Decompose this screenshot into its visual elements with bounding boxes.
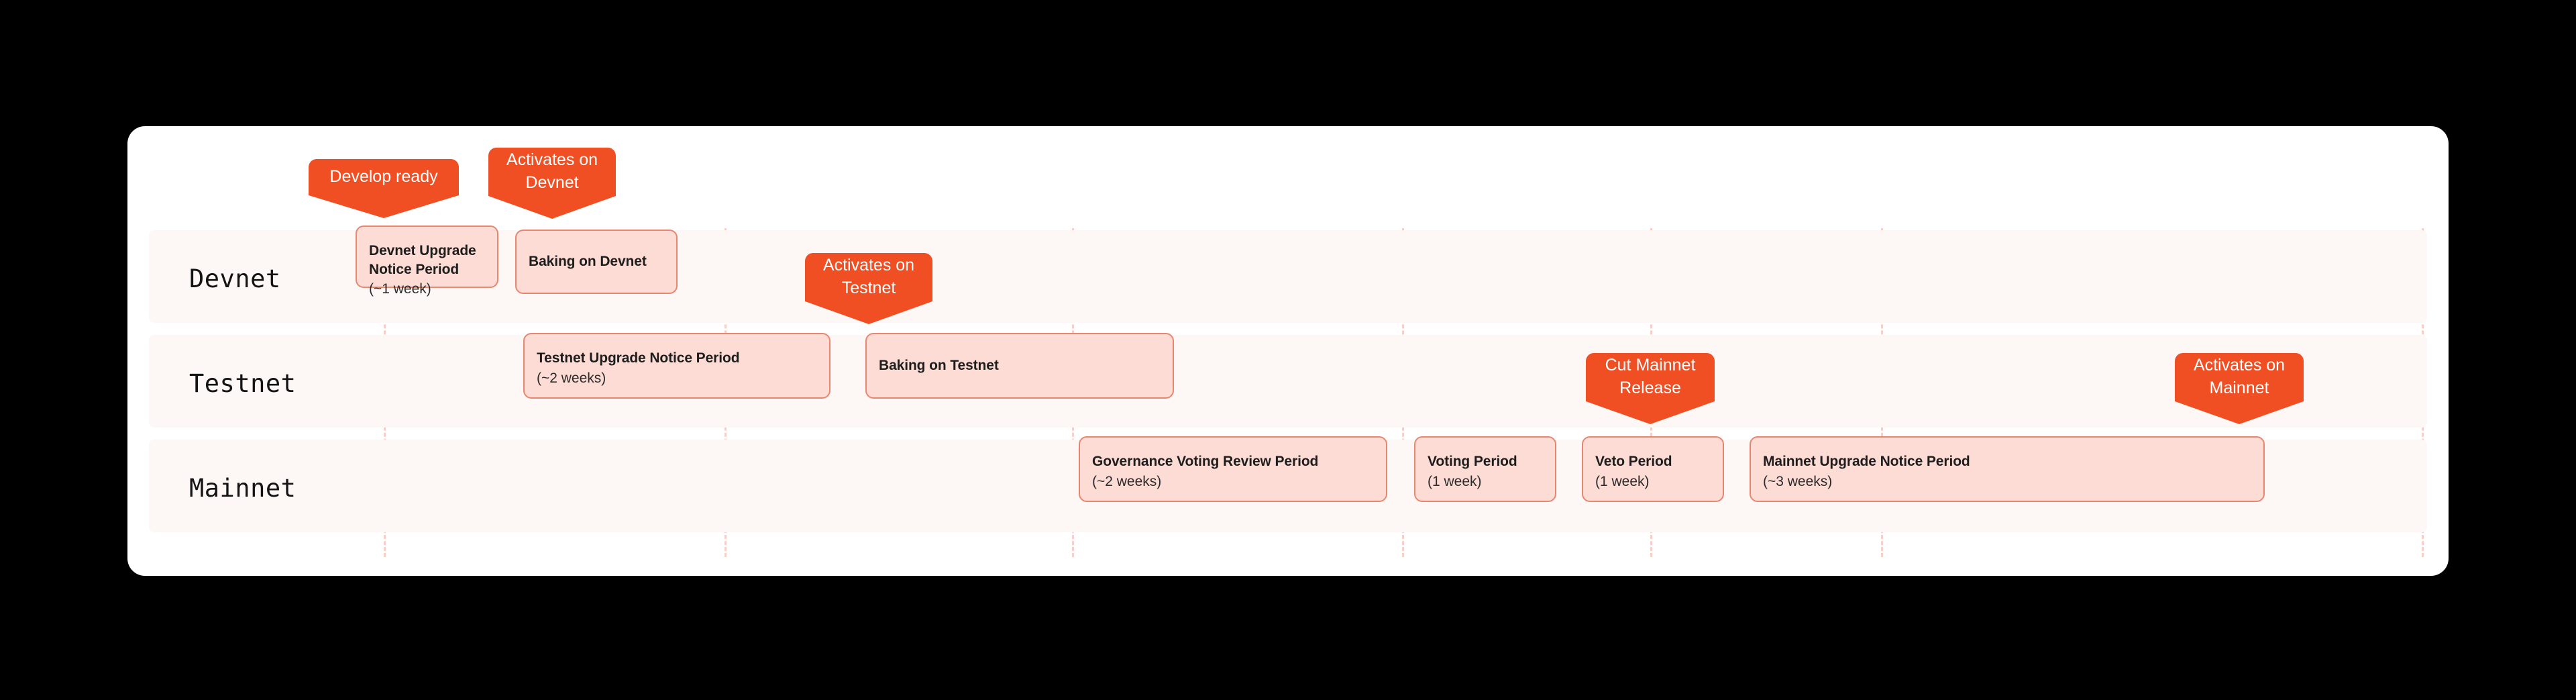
timeline-panel: Devnet Testnet Mainnet Devnet Upgrade No… xyxy=(127,126,2449,576)
card-duration: (~2 weeks) xyxy=(537,369,817,388)
card-voting-period[interactable]: Voting Period (1 week) xyxy=(1414,436,1556,502)
card-duration: (~2 weeks) xyxy=(1092,472,1374,491)
marker-cut-mainnet-release[interactable]: Cut Mainnet Release xyxy=(1586,353,1715,401)
card-title: Testnet Upgrade Notice Period xyxy=(537,349,817,368)
card-mainnet-upgrade-notice-period[interactable]: Mainnet Upgrade Notice Period (~3 weeks) xyxy=(1750,436,2265,502)
card-title: Mainnet Upgrade Notice Period xyxy=(1763,452,2251,471)
marker-activates-on-testnet[interactable]: Activates on Testnet xyxy=(805,253,932,301)
card-duration: (1 week) xyxy=(1428,472,1543,491)
card-testnet-upgrade-notice-period[interactable]: Testnet Upgrade Notice Period (~2 weeks) xyxy=(523,333,830,399)
marker-label-line2: Release xyxy=(1619,377,1681,400)
timeline-grid: Devnet Testnet Mainnet Devnet Upgrade No… xyxy=(127,126,2449,576)
card-title: Devnet Upgrade Notice Period xyxy=(369,242,485,279)
card-title: Governance Voting Review Period xyxy=(1092,452,1374,471)
row-band-testnet xyxy=(149,335,2427,428)
card-title: Voting Period xyxy=(1428,452,1543,471)
row-label-testnet: Testnet xyxy=(189,369,364,398)
card-devnet-upgrade-notice-period[interactable]: Devnet Upgrade Notice Period (~1 week) xyxy=(356,226,498,288)
marker-label-line1: Activates on xyxy=(2194,354,2285,377)
marker-develop-ready[interactable]: Develop ready xyxy=(309,159,459,195)
card-duration: (~3 weeks) xyxy=(1763,472,2251,491)
card-title: Baking on Devnet xyxy=(529,252,664,271)
card-baking-on-devnet[interactable]: Baking on Devnet xyxy=(515,230,678,294)
marker-activates-on-mainnet[interactable]: Activates on Mainnet xyxy=(2175,353,2304,401)
marker-label-line1: Cut Mainnet xyxy=(1605,354,1696,377)
row-label-mainnet: Mainnet xyxy=(189,474,364,503)
card-governance-voting-review-period[interactable]: Governance Voting Review Period (~2 week… xyxy=(1079,436,1387,502)
marker-label-line2: Testnet xyxy=(842,277,896,300)
marker-label-line2: Mainnet xyxy=(2210,377,2269,400)
marker-label-line2: Devnet xyxy=(525,171,578,195)
marker-label-line1: Activates on xyxy=(823,254,914,277)
marker-activates-on-devnet[interactable]: Activates on Devnet xyxy=(488,148,616,196)
card-title: Baking on Testnet xyxy=(879,356,1161,375)
marker-label: Develop ready xyxy=(329,165,437,189)
marker-label-line1: Activates on xyxy=(506,148,598,172)
row-label-devnet: Devnet xyxy=(189,264,364,293)
card-duration: (1 week) xyxy=(1595,472,1711,491)
card-title: Veto Period xyxy=(1595,452,1711,471)
card-duration: (~1 week) xyxy=(369,280,485,299)
card-veto-period[interactable]: Veto Period (1 week) xyxy=(1582,436,1724,502)
screenshot-root: Devnet Testnet Mainnet Devnet Upgrade No… xyxy=(0,0,2576,700)
card-baking-on-testnet[interactable]: Baking on Testnet xyxy=(865,333,1174,399)
